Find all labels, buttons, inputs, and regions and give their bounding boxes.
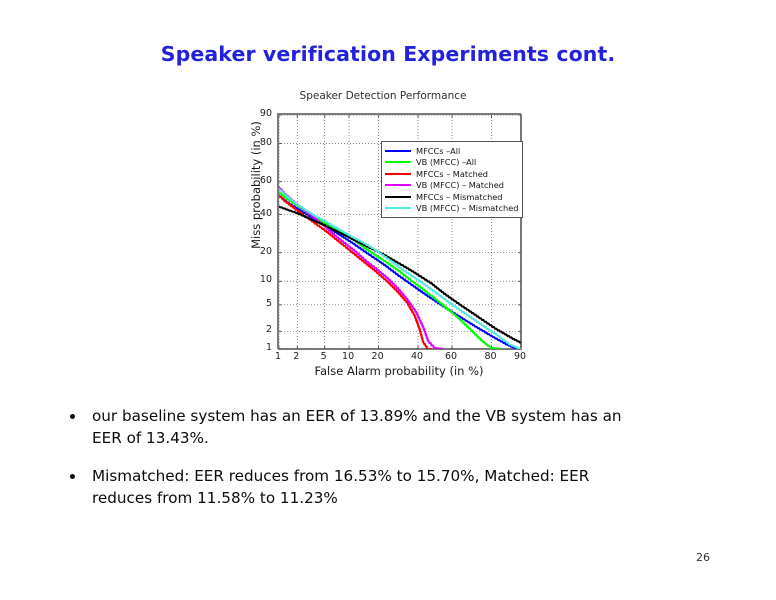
- bullet-text-line2: EER of 13.43%.: [92, 428, 722, 450]
- x-tick-label: 10: [337, 352, 359, 362]
- x-tick-label: 5: [313, 352, 335, 362]
- legend-color-swatch: [385, 173, 411, 175]
- y-tick-label: 60: [248, 176, 272, 186]
- legend-item: MFCCs – Matched: [385, 168, 518, 180]
- y-tick-label: 5: [248, 299, 272, 309]
- legend-label: VB (MFCC) – Matched: [416, 181, 504, 189]
- legend-color-swatch: [385, 184, 411, 186]
- bullet-dot-icon: [70, 474, 75, 479]
- legend-label: VB (MFCC) –All: [416, 158, 476, 166]
- x-tick-label: 40: [406, 352, 428, 362]
- legend-label: VB (MFCC) – Mismatched: [416, 204, 518, 212]
- legend-label: MFCCs – Mismatched: [416, 193, 503, 201]
- legend-color-swatch: [385, 161, 411, 163]
- x-tick-label: 60: [440, 352, 462, 362]
- y-tick-label: 10: [248, 275, 272, 285]
- legend-label: MFCCs – Matched: [416, 170, 488, 178]
- legend-item: VB (MFCC) – Mismatched: [385, 203, 518, 215]
- x-tick-label: 20: [367, 352, 389, 362]
- y-tick-label: 80: [248, 138, 272, 148]
- legend-label: MFCCs –All: [416, 147, 460, 155]
- legend-color-swatch: [385, 196, 411, 198]
- legend-item: VB (MFCC) – Matched: [385, 180, 518, 192]
- x-tick-label: 90: [509, 352, 531, 362]
- legend-item: MFCCs – Mismatched: [385, 191, 518, 203]
- page-title: Speaker verification Experiments cont.: [0, 42, 776, 66]
- bullet-text-line1: our baseline system has an EER of 13.89%…: [92, 407, 622, 425]
- y-tick-label: 2: [248, 325, 272, 335]
- chart-legend: MFCCs –AllVB (MFCC) –AllMFCCs – MatchedV…: [381, 141, 523, 218]
- list-item: our baseline system has an EER of 13.89%…: [62, 406, 722, 449]
- det-chart-figure: Speaker Detection Performance Miss proba…: [228, 90, 538, 388]
- det-curve: [279, 206, 521, 342]
- bullet-list: our baseline system has an EER of 13.89%…: [62, 406, 722, 526]
- x-tick-label: 80: [479, 352, 501, 362]
- plot-area: MFCCs –AllVB (MFCC) –AllMFCCs – MatchedV…: [277, 113, 521, 349]
- y-tick-label: 40: [248, 209, 272, 219]
- bullet-dot-icon: [70, 414, 75, 419]
- x-axis-label: False Alarm probability (in %): [277, 364, 521, 378]
- list-item: Mismatched: EER reduces from 16.53% to 1…: [62, 466, 722, 509]
- y-tick-label: 20: [248, 247, 272, 257]
- bullet-text-line1: Mismatched: EER reduces from 16.53% to 1…: [92, 467, 589, 485]
- bullet-text-line2: reduces from 11.58% to 11.23%: [92, 488, 722, 510]
- page-number: 26: [696, 551, 710, 564]
- legend-color-swatch: [385, 207, 411, 209]
- y-tick-label: 90: [248, 109, 272, 119]
- x-tick-label: 2: [285, 352, 307, 362]
- chart-title: Speaker Detection Performance: [228, 90, 538, 102]
- legend-item: VB (MFCC) –All: [385, 157, 518, 169]
- legend-item: MFCCs –All: [385, 145, 518, 157]
- legend-color-swatch: [385, 150, 411, 152]
